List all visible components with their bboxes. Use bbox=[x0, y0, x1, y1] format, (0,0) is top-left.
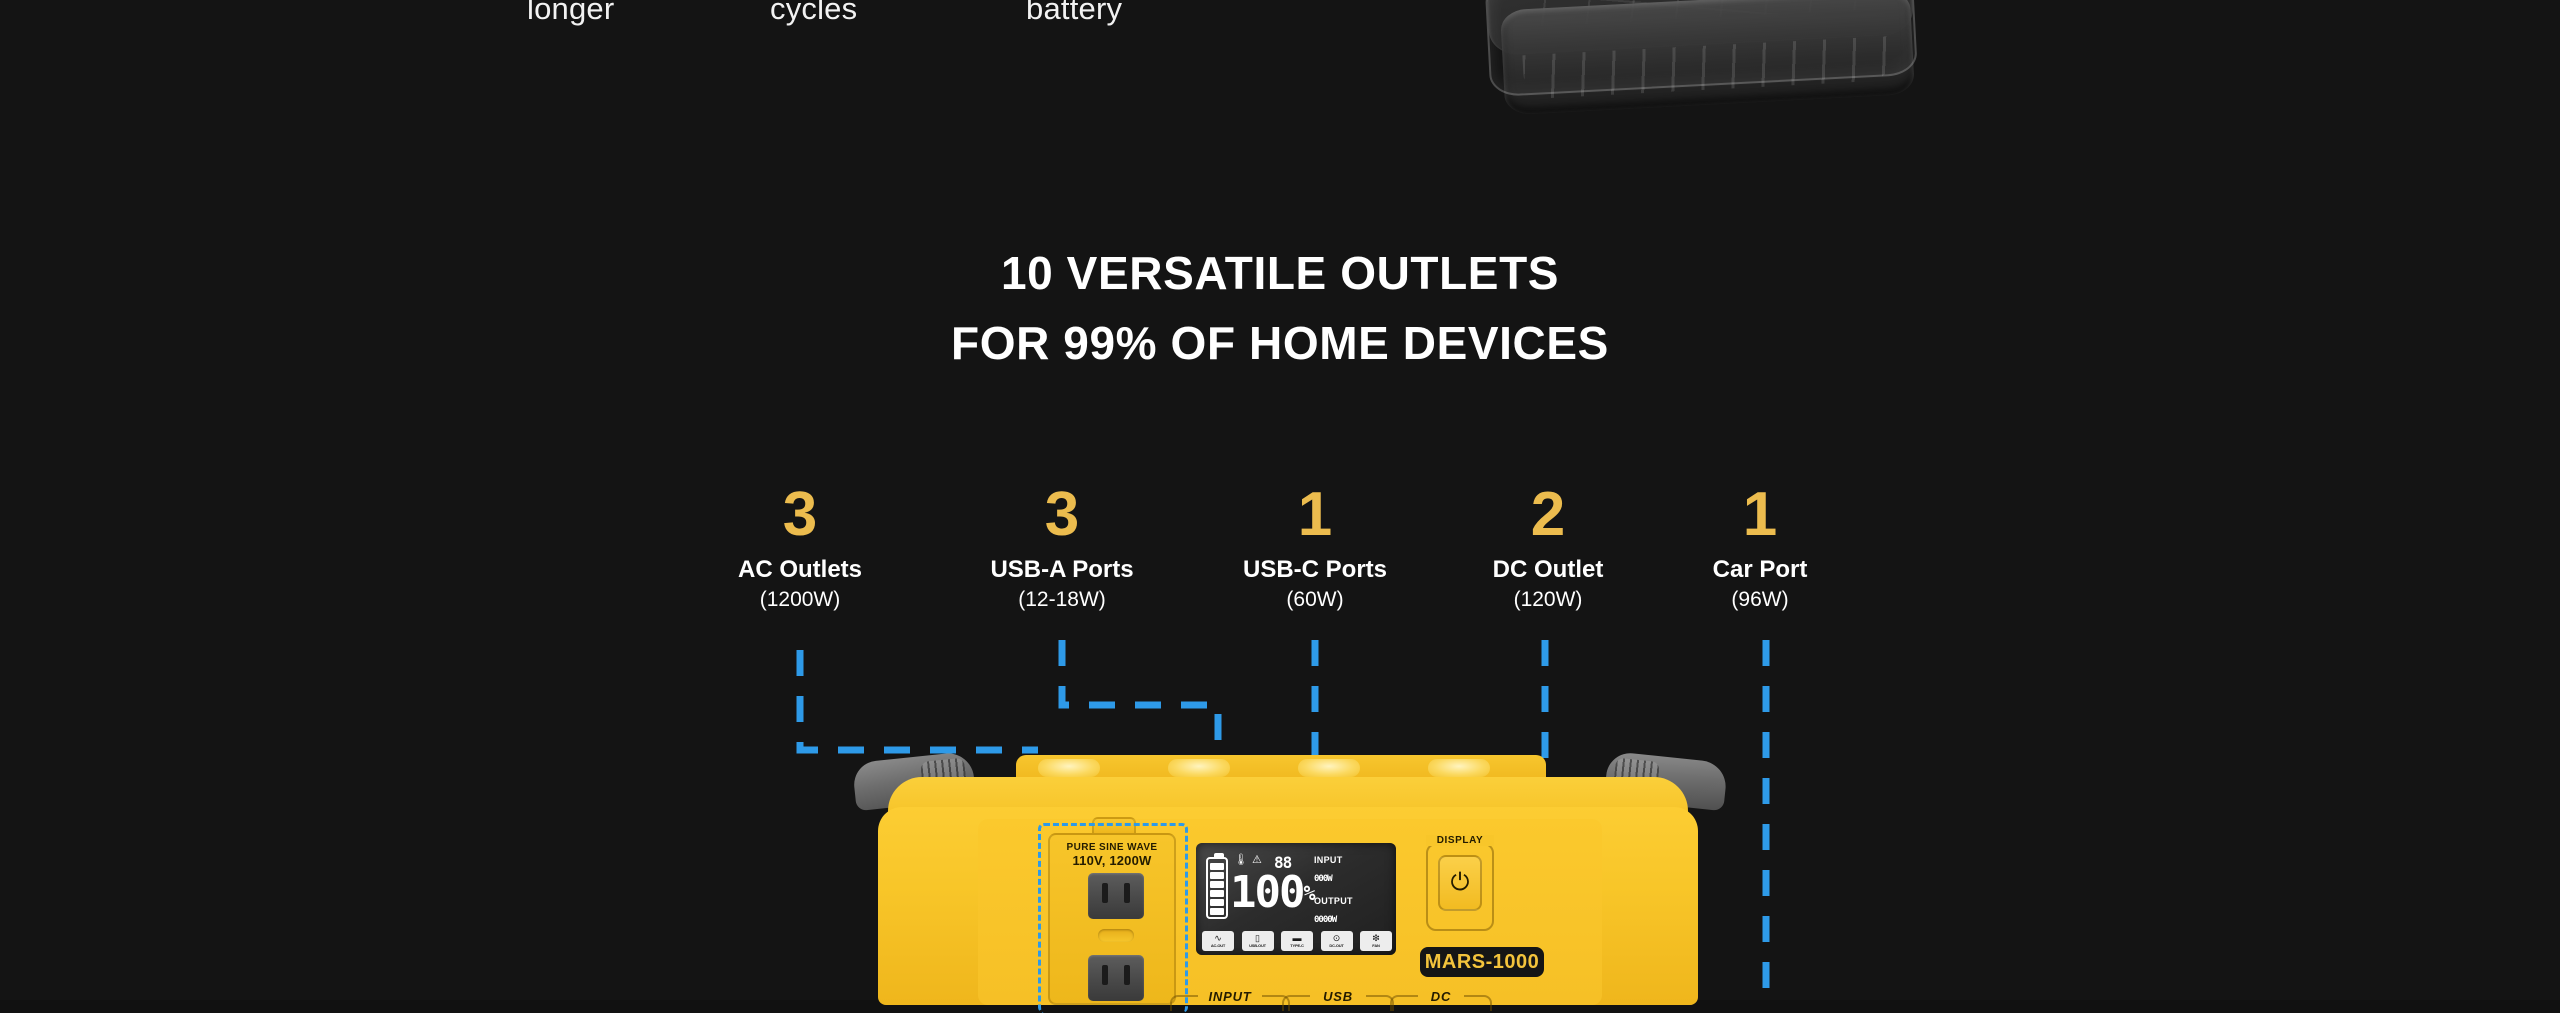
lcd-chip-label: FAN bbox=[1372, 943, 1379, 948]
lcd-io-readout: INPUT 000W OUTPUT 0000W bbox=[1314, 855, 1390, 930]
top-light-bump bbox=[1168, 759, 1230, 777]
stat-power: (12-18W) bbox=[990, 586, 1133, 614]
stat-dc-outlet: 2 DC Outlet (120W) bbox=[1493, 482, 1604, 614]
power-station-device: PURE SINE WAVE 110V, 1200W 🌡 ⚠ 88 100% I… bbox=[860, 755, 1720, 1005]
dc-port-icon: ⊙ bbox=[1333, 934, 1341, 943]
stat-label: DC Outlet bbox=[1493, 554, 1604, 586]
lcd-chip-label: TYPE-C bbox=[1290, 943, 1303, 948]
lcd-charge-value: 100 bbox=[1230, 867, 1303, 918]
lcd-chip-label: AC-OUT bbox=[1211, 943, 1225, 948]
stat-power: (96W) bbox=[1713, 586, 1808, 614]
stat-count: 3 bbox=[738, 482, 862, 548]
ac-panel-highlight-box bbox=[1038, 823, 1188, 1013]
lcd-chip-label: USB-OUT bbox=[1249, 943, 1266, 948]
headline-line-1: 10 VERSATILE OUTLETS bbox=[0, 238, 2560, 308]
stat-power: (60W) bbox=[1243, 586, 1387, 614]
usb-a-icon: ▯ bbox=[1255, 934, 1260, 943]
battery-segment bbox=[1210, 881, 1224, 888]
battery-tray-image bbox=[1472, 0, 1928, 171]
connector-ac-outlets bbox=[800, 650, 1038, 750]
stat-label: AC Outlets bbox=[738, 554, 862, 586]
lcd-chip-type-c: ▬ TYPE-C bbox=[1281, 931, 1313, 951]
lcd-output-value: 0000 bbox=[1314, 915, 1332, 925]
model-badge: MARS-1000 bbox=[1420, 947, 1544, 977]
stat-count: 1 bbox=[1713, 482, 1808, 548]
port-group-label-usb: USB bbox=[1312, 983, 1364, 1009]
top-light-bump bbox=[1298, 759, 1360, 777]
page-headline: 10 VERSATILE OUTLETS FOR 99% OF HOME DEV… bbox=[0, 238, 2560, 378]
warning-icon: ⚠ bbox=[1252, 855, 1262, 866]
stat-count: 3 bbox=[990, 482, 1133, 548]
battery-segment bbox=[1210, 872, 1224, 879]
stat-label: Car Port bbox=[1713, 554, 1808, 586]
headline-line-2: FOR 99% OF HOME DEVICES bbox=[0, 308, 2560, 378]
stat-power: (120W) bbox=[1493, 586, 1604, 614]
battery-segment bbox=[1210, 899, 1224, 906]
lcd-status-icons: 🌡 ⚠ bbox=[1234, 855, 1262, 866]
lcd-chip-dc-out: ⊙ DC-OUT bbox=[1321, 931, 1353, 951]
stat-label: USB-C Ports bbox=[1243, 554, 1387, 586]
lcd-chip-usb-out: ▯ USB-OUT bbox=[1242, 931, 1274, 951]
fan-icon: ❇ bbox=[1372, 934, 1380, 943]
thermometer-icon: 🌡 bbox=[1234, 855, 1248, 866]
display-power-button[interactable]: ⏻ bbox=[1438, 855, 1482, 911]
power-icon: ⏻ bbox=[1451, 869, 1470, 897]
lcd-status-chip-row: ∿ AC-OUT ▯ USB-OUT ▬ TYPE-C ⊙ DC-OUT ❇ F… bbox=[1202, 931, 1392, 951]
lcd-chip-ac-out: ∿ AC-OUT bbox=[1202, 931, 1234, 951]
lcd-chip-label: DC-OUT bbox=[1329, 943, 1343, 948]
port-group-label-dc: DC bbox=[1420, 983, 1462, 1009]
port-group-label-input: INPUT bbox=[1200, 983, 1260, 1009]
stat-usb-c-ports: 1 USB-C Ports (60W) bbox=[1243, 482, 1387, 614]
lcd-input-value-row: 000W bbox=[1314, 865, 1390, 889]
battery-segment bbox=[1210, 908, 1224, 915]
battery-segment bbox=[1210, 863, 1224, 870]
lcd-chip-fan: ❇ FAN bbox=[1360, 931, 1392, 951]
display-button-label: DISPLAY bbox=[1426, 835, 1494, 846]
top-word-cycles: cycles bbox=[770, 0, 857, 27]
battery-level-icon bbox=[1206, 857, 1228, 919]
stat-count: 2 bbox=[1493, 482, 1604, 548]
stat-power: (1200W) bbox=[738, 586, 862, 614]
stat-car-port: 1 Car Port (96W) bbox=[1713, 482, 1808, 614]
ac-wave-icon: ∿ bbox=[1214, 934, 1222, 943]
top-clipped-words: longer cycles battery bbox=[0, 0, 1400, 40]
lcd-charge-unit: % bbox=[1303, 881, 1313, 905]
stat-usb-a-ports: 3 USB-A Ports (12-18W) bbox=[990, 482, 1133, 614]
top-light-bump bbox=[1038, 759, 1100, 777]
lcd-charge-readout: 100% bbox=[1230, 871, 1314, 915]
lcd-output-unit: W bbox=[1332, 915, 1336, 925]
usb-c-icon: ▬ bbox=[1293, 934, 1302, 943]
lcd-output-label: OUTPUT bbox=[1314, 896, 1390, 906]
lcd-screen: 🌡 ⚠ 88 100% INPUT 000W OUTPUT 0000W ∿ AC… bbox=[1196, 843, 1396, 955]
battery-segment bbox=[1210, 890, 1224, 897]
lcd-input-value: 000 bbox=[1314, 874, 1327, 884]
lcd-input-label: INPUT bbox=[1314, 855, 1390, 865]
lcd-input-unit: W bbox=[1327, 874, 1331, 884]
top-light-bump bbox=[1428, 759, 1490, 777]
top-word-longer: longer bbox=[527, 0, 614, 27]
lcd-output-value-row: 0000W bbox=[1314, 906, 1390, 930]
top-word-battery: battery bbox=[1026, 0, 1122, 27]
stats-row: 3 AC Outlets (1200W) 3 USB-A Ports (12-1… bbox=[0, 482, 2560, 632]
stat-label: USB-A Ports bbox=[990, 554, 1133, 586]
stat-ac-outlets: 3 AC Outlets (1200W) bbox=[738, 482, 862, 614]
stat-count: 1 bbox=[1243, 482, 1387, 548]
